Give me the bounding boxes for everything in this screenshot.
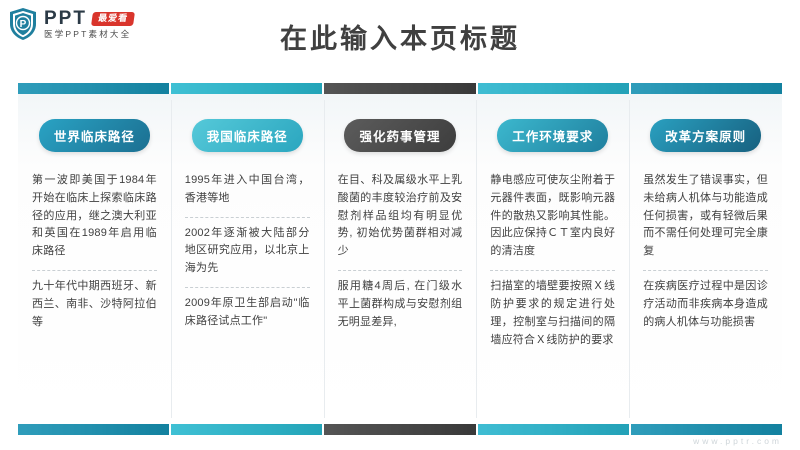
column-4: 工作环境要求 静电感应可使灰尘附着于元器件表面，既影响元器件的散热又影响其性能。… [476,94,629,424]
column-4-badge[interactable]: 工作环境要求 [497,119,608,152]
column-1-paragraphs: 第一波即美国于1984年开始在临床上探索临床路径的应用，继之澳大利亚和英国在19… [32,172,157,341]
top-color-strip [18,83,782,94]
column-4-paragraphs: 静电感应可使灰尘附着于元器件表面，既影响元器件的散热又影响其性能。因此应保持ＣＴ… [490,172,615,358]
column-3-badge[interactable]: 强化药事管理 [344,119,455,152]
column-1: 世界临床路径 第一波即美国于1984年开始在临床上探索临床路径的应用，继之澳大利… [18,94,171,424]
column-4-badge-wrap: 工作环境要求 [490,119,615,152]
column-2-paragraphs: 1995年进入中国台湾，香港等地 2002年逐渐被大陆部分地区研究应用，以北京上… [185,172,310,340]
bottom-strip-segment-5 [631,424,782,435]
bottom-strip-segment-2 [171,424,322,435]
column-1-badge-wrap: 世界临床路径 [32,119,157,152]
column-5-paragraphs: 虽然发生了错误事实，但未给病人机体与功能造成任何损害，或有轻微后果而不需任何处理… [643,172,768,341]
column-5-paragraph-1: 虽然发生了错误事实，但未给病人机体与功能造成任何损害，或有轻微后果而不需任何处理… [643,172,768,270]
bottom-strip-segment-3 [324,424,475,435]
strip-segment-1 [18,83,169,94]
column-2-badge-wrap: 我国临床路径 [185,119,310,152]
column-3: 强化药事管理 在目、科及属级水平上乳酸菌的丰度较治疗前及安慰剂样品组均有明显优势… [324,94,477,424]
content-board: 世界临床路径 第一波即美国于1984年开始在临床上探索临床路径的应用，继之澳大利… [18,83,782,435]
strip-segment-4 [478,83,629,94]
strip-segment-5 [631,83,782,94]
column-2-paragraph-1: 1995年进入中国台湾，香港等地 [185,172,310,217]
column-4-paragraph-1: 静电感应可使灰尘附着于元器件表面，既影响元器件的散热又影响其性能。因此应保持ＣＴ… [490,172,615,270]
column-1-paragraph-2: 九十年代中期西班牙、新西兰、南非、沙特阿拉伯等 [32,270,157,340]
bottom-color-strip [18,424,782,435]
column-3-paragraph-1: 在目、科及属级水平上乳酸菌的丰度较治疗前及安慰剂样品组均有明显优势, 初始优势菌… [338,172,463,270]
column-3-paragraph-2: 服用糖4周后, 在门级水平上菌群构成与安慰剂组无明显差异, [338,270,463,340]
slide-canvas: P PPT 最爱看 医学PPT素材大全 在此输入本页标题 世界临床路径 [0,0,800,450]
page-title: 在此输入本页标题 [0,17,800,56]
column-1-badge[interactable]: 世界临床路径 [39,119,150,152]
column-2: 我国临床路径 1995年进入中国台湾，香港等地 2002年逐渐被大陆部分地区研究… [171,94,324,424]
columns-container: 世界临床路径 第一波即美国于1984年开始在临床上探索临床路径的应用，继之澳大利… [18,94,782,424]
strip-segment-3 [324,83,475,94]
column-3-paragraphs: 在目、科及属级水平上乳酸菌的丰度较治疗前及安慰剂样品组均有明显优势, 初始优势菌… [338,172,463,341]
column-3-badge-wrap: 强化药事管理 [338,119,463,152]
column-2-badge[interactable]: 我国临床路径 [192,119,303,152]
column-5-paragraph-2: 在疾病医疗过程中是因诊疗活动而非疾病本身造成的病人机体与功能损害 [643,270,768,340]
site-watermark: www.pptr.com [693,436,782,446]
bottom-strip-segment-1 [18,424,169,435]
column-1-paragraph-1: 第一波即美国于1984年开始在临床上探索临床路径的应用，继之澳大利亚和英国在19… [32,172,157,270]
column-4-paragraph-2: 扫描室的墙壁要按照Ｘ线防护要求的规定进行处理，控制室与扫描间的隔墙应符合Ｘ线防护… [490,270,615,358]
column-2-paragraph-3: 2009年原卫生部启动"临床路径试点工作" [185,287,310,340]
column-2-paragraph-2: 2002年逐渐被大陆部分地区研究应用，以北京上海为先 [185,217,310,287]
strip-segment-2 [171,83,322,94]
column-5-badge[interactable]: 改革方案原则 [650,119,761,152]
column-5-badge-wrap: 改革方案原则 [643,119,768,152]
bottom-strip-segment-4 [478,424,629,435]
column-5: 改革方案原则 虽然发生了错误事实，但未给病人机体与功能造成任何损害，或有轻微后果… [629,94,782,424]
